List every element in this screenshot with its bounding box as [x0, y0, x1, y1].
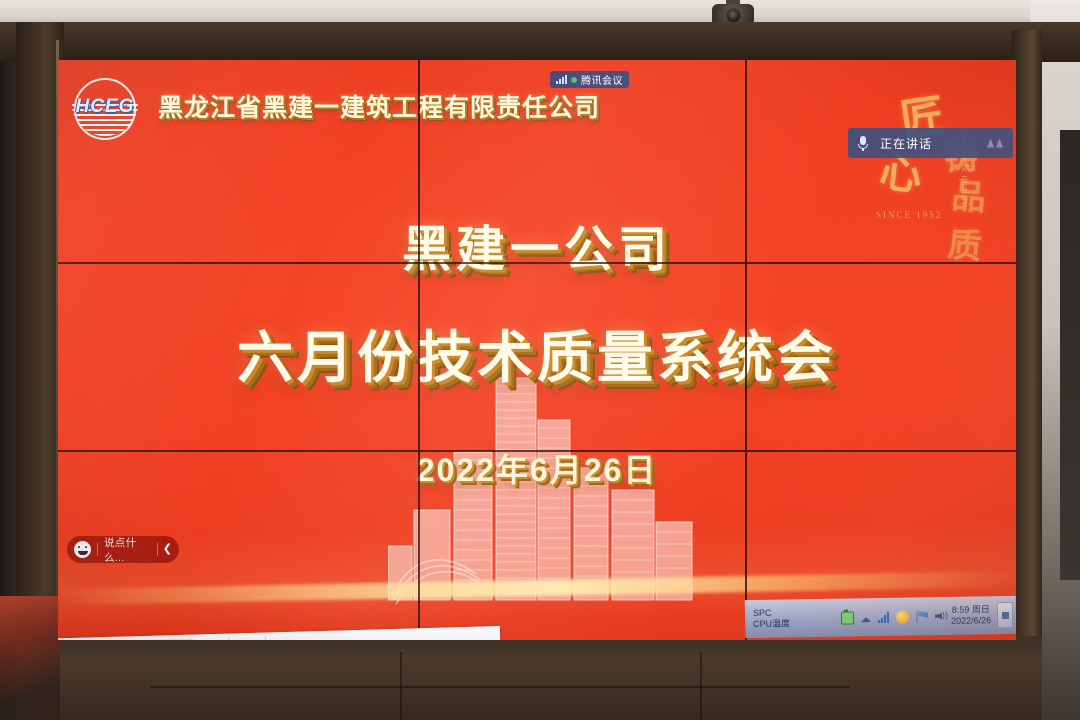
- cabinet-seam: [150, 686, 850, 688]
- clock-date: 2022/6/26: [951, 615, 991, 627]
- search-input[interactable]: 搜索一下: [130, 638, 192, 640]
- taskbar-item-wps[interactable]: P: [265, 635, 303, 640]
- chevron-left-icon[interactable]: ❮: [163, 544, 172, 555]
- battery-icon[interactable]: [841, 611, 854, 624]
- display-frame-right: [1012, 30, 1042, 720]
- floor-reflection: [0, 596, 60, 720]
- windows-taskbar[interactable]: 当代杂志社 搜索一下 P: [58, 626, 501, 640]
- speaking-indicator[interactable]: 正在讲话: [848, 128, 1013, 158]
- cabinet-below-display: [16, 636, 1042, 720]
- taskbar-clock[interactable]: 8:59 周日 2022/6/26: [951, 604, 997, 627]
- microphone-icon: [858, 136, 868, 151]
- display-frame-top: [0, 22, 1080, 62]
- cpu-monitor-widget: SPC CPU温度: [745, 607, 819, 631]
- tencent-meeting-badge[interactable]: 腾讯会议: [550, 71, 629, 88]
- page-title: 黑建一公司: [58, 210, 1016, 281]
- divider: [157, 543, 158, 556]
- emoji-smiley-icon[interactable]: [74, 541, 91, 558]
- monitor-line-2: CPU温度: [753, 618, 819, 630]
- clock-time: 8:59 周日: [951, 604, 991, 616]
- taskbar-item-document[interactable]: [191, 637, 229, 640]
- wps-presentation-icon: P: [274, 639, 295, 640]
- divider: [97, 543, 98, 556]
- slide-title-block: 黑建一公司 六月份技术质量系统会: [58, 210, 1016, 394]
- panel-seam-horizontal: [58, 262, 1016, 264]
- company-name: 黑龙江省黑建一建筑工程有限责任公司: [158, 88, 600, 124]
- tencent-meeting-label: 腾讯会议: [581, 72, 623, 87]
- system-tray-bar[interactable]: SPC CPU温度 )) 8:59 周日 2022/6/26: [745, 596, 1016, 638]
- hceg-circle-logo-icon: HCEG: [68, 78, 142, 142]
- sound-wave-icon: [987, 139, 1003, 148]
- volume-speaker-icon[interactable]: )): [935, 610, 948, 622]
- security-shield-icon[interactable]: [896, 610, 909, 623]
- show-desktop-button[interactable]: [997, 602, 1013, 628]
- chat-input[interactable]: 说点什么...: [104, 535, 152, 565]
- taskbar-item-cloud[interactable]: [228, 636, 266, 640]
- cabinet-divider: [700, 652, 702, 720]
- tray-icons[interactable]: )): [841, 609, 948, 624]
- chat-input-bar[interactable]: 说点什么... ❮: [67, 536, 179, 563]
- speaking-label: 正在讲话: [880, 135, 932, 152]
- signal-bars-icon: [556, 75, 567, 84]
- video-wall-screen[interactable]: HCEG 黑龙江省黑建一建筑工程有限责任公司 匠 心 铸 品质 quality …: [58, 60, 1016, 640]
- show-hidden-icons-caret[interactable]: [861, 617, 871, 622]
- panel-seam-horizontal: [58, 450, 1016, 452]
- logo-mark-text: HCEG: [68, 96, 142, 118]
- right-wall-dark-glass: [1060, 130, 1080, 580]
- camera-lens: [727, 9, 740, 22]
- conference-room: HCEG 黑龙江省黑建一建筑工程有限责任公司 匠 心 铸 品质 quality …: [0, 0, 1080, 720]
- action-center-flag-icon[interactable]: [916, 610, 928, 622]
- panel-seam-vertical: [745, 60, 747, 640]
- cabinet-divider: [400, 652, 402, 720]
- page-subtitle: 六月份技术质量系统会: [58, 313, 1016, 394]
- green-status-dot: [571, 77, 577, 83]
- panel-seam-vertical: [418, 60, 420, 640]
- network-signal-icon[interactable]: [878, 611, 889, 622]
